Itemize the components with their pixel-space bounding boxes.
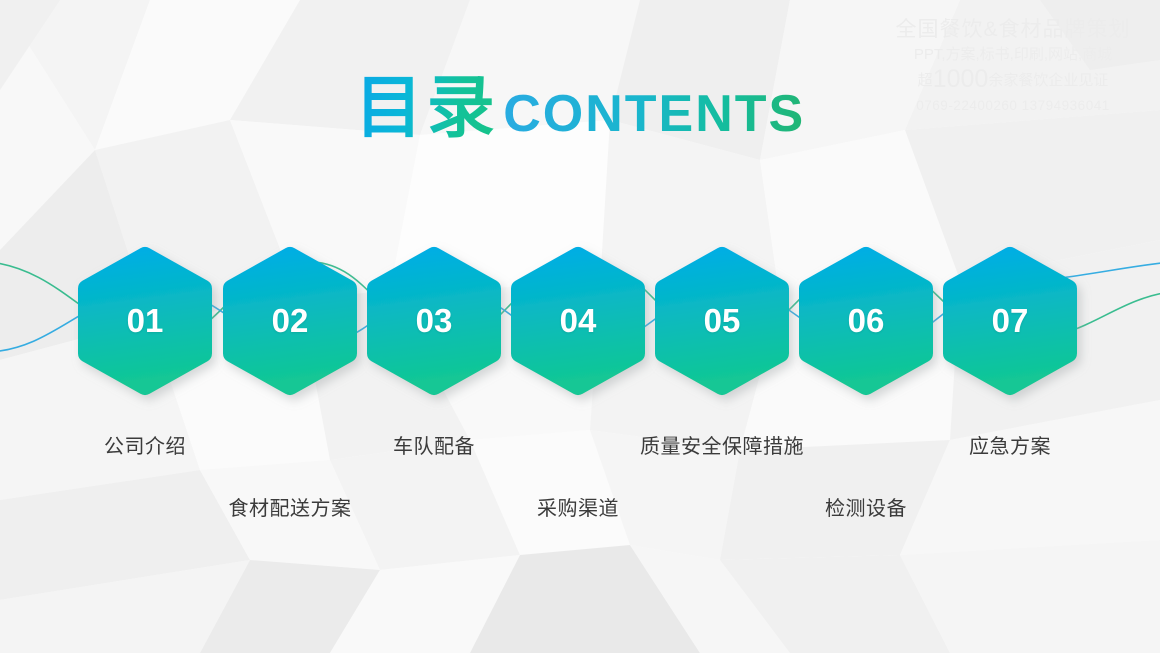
hexagon-item-07[interactable]: 07 (952, 256, 1068, 386)
caption-item-03[interactable]: 车队配备 (393, 430, 475, 459)
hexagon-number: 02 (232, 256, 348, 386)
caption-item-06[interactable]: 检测设备 (825, 492, 907, 521)
hexagon-item-05[interactable]: 05 (664, 256, 780, 386)
hexagon-number: 07 (952, 256, 1068, 386)
hexagon-item-03[interactable]: 03 (376, 256, 492, 386)
hexagon-item-04[interactable]: 04 (520, 256, 636, 386)
hexagon-item-06[interactable]: 06 (808, 256, 924, 386)
hexagon-number: 04 (520, 256, 636, 386)
hexagon-number: 01 (87, 256, 203, 386)
caption-item-07[interactable]: 应急方案 (969, 430, 1051, 459)
contents-slide: 全国餐饮&食材品牌策划 PPT,方案,标书,印刷,网站,商城 超1000余家餐饮… (0, 0, 1160, 653)
hexagon-item-01[interactable]: 01 (87, 256, 203, 386)
caption-item-02[interactable]: 食材配送方案 (229, 492, 352, 521)
caption-item-05[interactable]: 质量安全保障措施 (640, 430, 804, 459)
hexagon-item-02[interactable]: 02 (232, 256, 348, 386)
hexagon-number: 06 (808, 256, 924, 386)
hexagon-number: 03 (376, 256, 492, 386)
caption-item-04[interactable]: 采购渠道 (537, 492, 619, 521)
hexagon-number: 05 (664, 256, 780, 386)
caption-item-01[interactable]: 公司介绍 (104, 430, 186, 459)
